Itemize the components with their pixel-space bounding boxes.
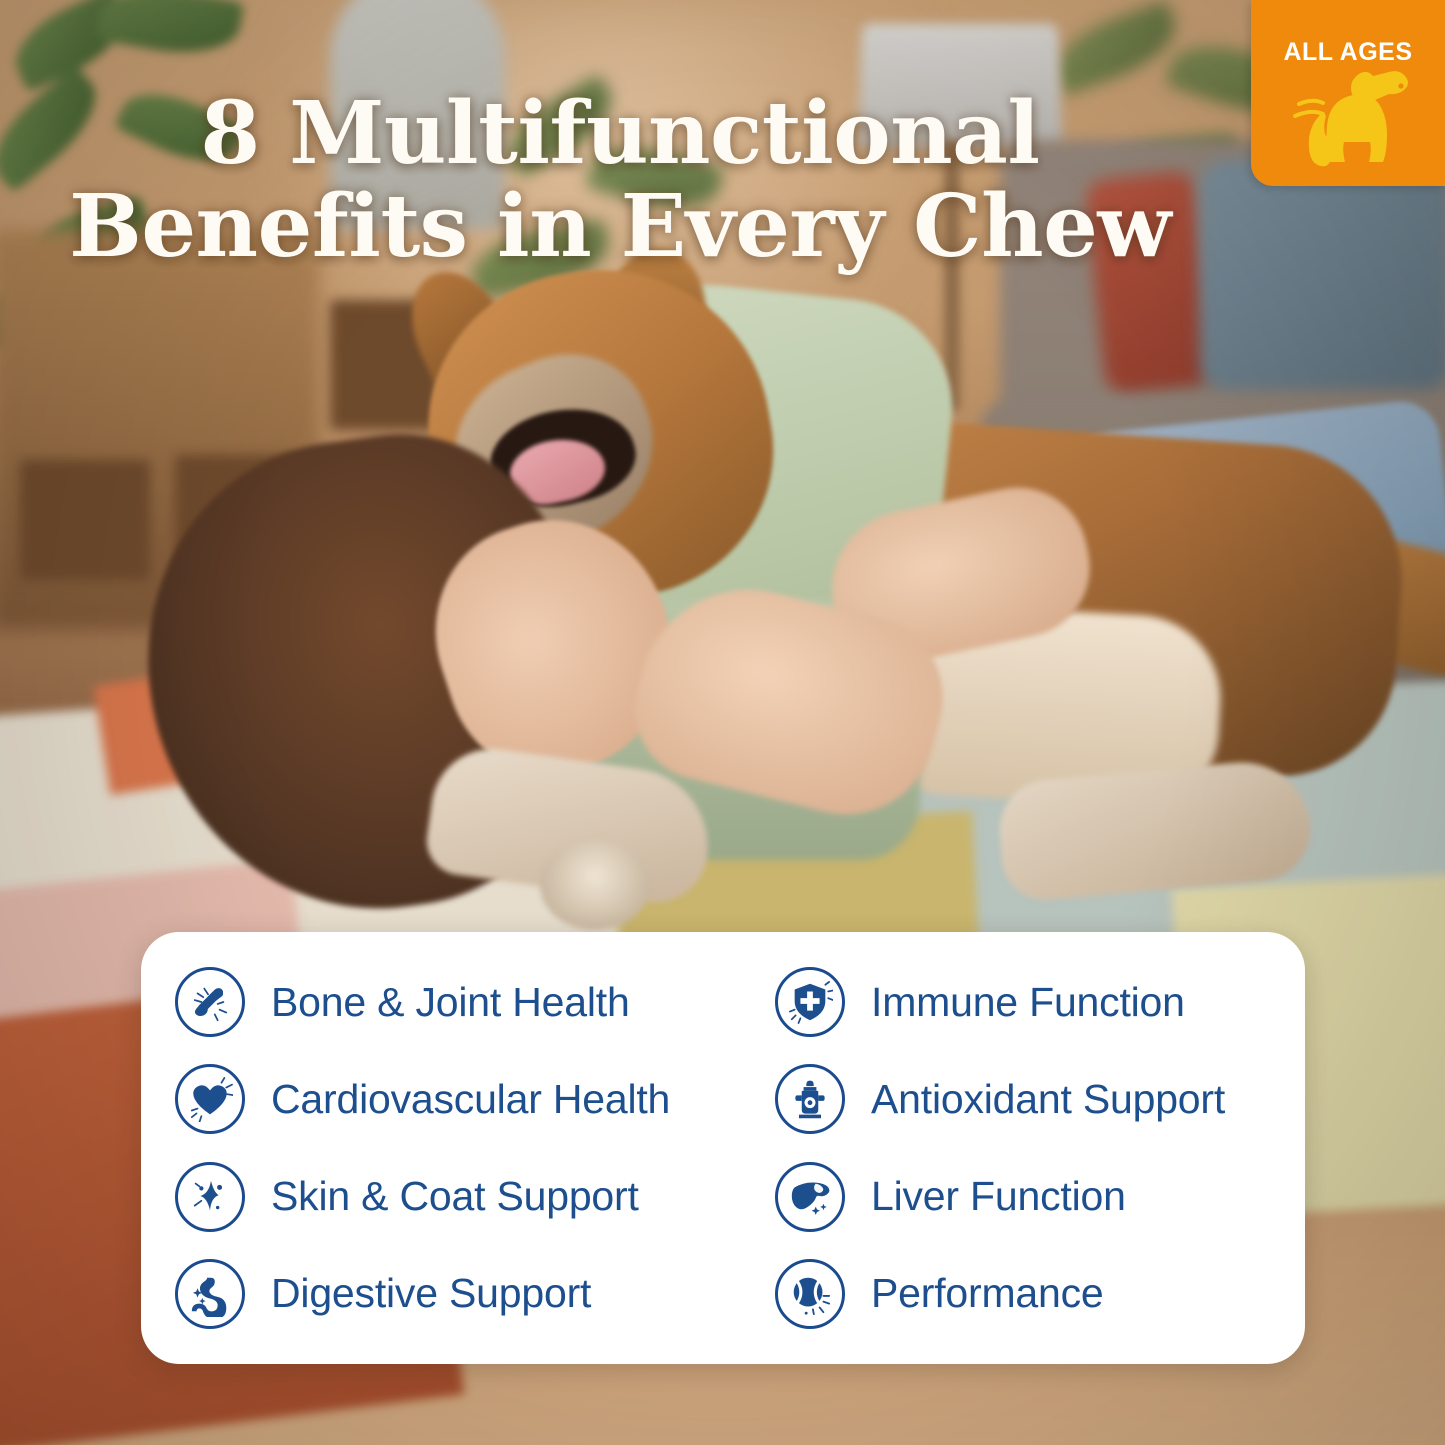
all-ages-label: ALL AGES — [1251, 38, 1445, 67]
benefit-label: Bone & Joint Health — [271, 979, 630, 1026]
bone-joint-icon — [175, 967, 245, 1037]
benefit-immune-function[interactable]: Immune Function — [775, 954, 1275, 1050]
fire-hydrant-icon — [775, 1064, 845, 1134]
liver-icon — [775, 1162, 845, 1232]
sparkle-star-icon — [175, 1162, 245, 1232]
benefits-card: Bone & Joint Health — [141, 932, 1305, 1364]
benefit-skin-coat-support[interactable]: Skin & Coat Support — [175, 1149, 775, 1245]
benefit-performance[interactable]: Performance — [775, 1246, 1275, 1342]
benefit-label: Antioxidant Support — [871, 1076, 1225, 1123]
benefit-cardiovascular-health[interactable]: Cardiovascular Health — [175, 1051, 775, 1147]
shield-plus-icon — [775, 967, 845, 1037]
benefit-liver-function[interactable]: Liver Function — [775, 1149, 1275, 1245]
benefit-label: Cardiovascular Health — [271, 1076, 670, 1123]
benefit-antioxidant-support[interactable]: Antioxidant Support — [775, 1051, 1275, 1147]
headline-line-2: Benefits in Every Chew — [28, 181, 1212, 274]
benefit-label: Skin & Coat Support — [271, 1173, 639, 1220]
benefit-label: Immune Function — [871, 979, 1185, 1026]
benefits-column-right: Immune Function — [775, 954, 1275, 1342]
benefit-label: Liver Function — [871, 1173, 1126, 1220]
stomach-icon — [175, 1259, 245, 1329]
all-ages-badge: ALL AGES — [1251, 0, 1445, 186]
page-title: 8 Multifunctional Benefits in Every Chew — [0, 88, 1240, 274]
benefit-digestive-support[interactable]: Digestive Support — [175, 1246, 775, 1342]
sitting-dog-icon — [1283, 64, 1413, 176]
heart-icon — [175, 1064, 245, 1134]
benefit-label: Digestive Support — [271, 1270, 591, 1317]
product-benefits-poster: 8 Multifunctional Benefits in Every Chew… — [0, 0, 1445, 1445]
headline-line-1: 8 Multifunctional — [200, 83, 1039, 184]
benefits-column-left: Bone & Joint Health — [175, 954, 775, 1342]
benefit-bone-joint-health[interactable]: Bone & Joint Health — [175, 954, 775, 1050]
benefit-label: Performance — [871, 1270, 1104, 1317]
tennis-ball-icon — [775, 1259, 845, 1329]
